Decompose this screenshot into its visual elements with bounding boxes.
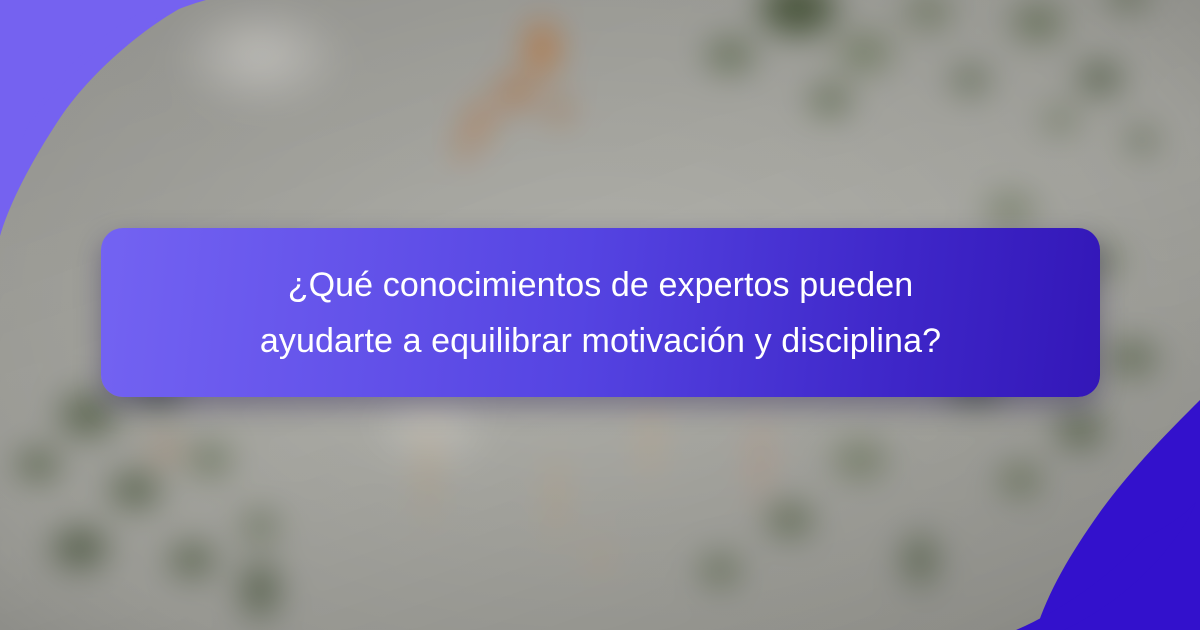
social-share-card: ¿Qué conocimientos de expertos puedenayu… [0,0,1200,630]
page-title-line-1: ¿Qué conocimientos de expertos pueden [288,266,914,304]
title-banner: ¿Qué conocimientos de expertos puedenayu… [101,228,1100,397]
page-title-line-2: ayudarte a equilibrar motivación y disci… [260,322,941,360]
page-title: ¿Qué conocimientos de expertos puedenayu… [260,257,941,369]
